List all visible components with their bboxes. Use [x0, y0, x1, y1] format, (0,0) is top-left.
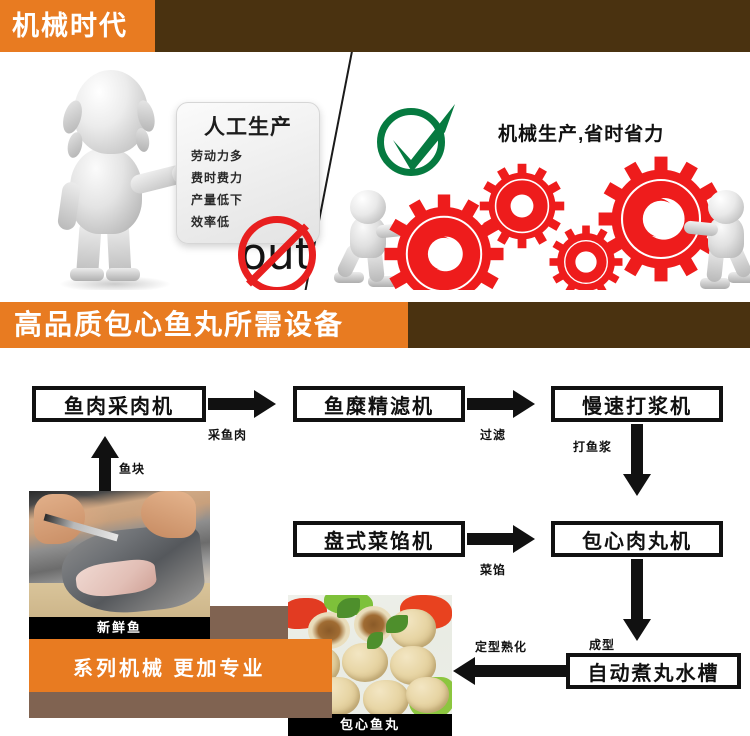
arrow-label-forming: 成型	[589, 636, 615, 653]
top-banner: 机械时代	[0, 0, 750, 52]
arrow-veg-filling-head	[513, 525, 535, 553]
gear-assembly	[400, 132, 750, 290]
promo-band-label: 系列机械 更加专业	[73, 652, 266, 681]
hero-illustration: 人工生产 劳动力多 费时费力 产量低下 效率低 out 机械生产,省时省力	[0, 52, 750, 290]
pusher-head	[708, 190, 744, 224]
list-item: 费时费力	[191, 167, 311, 189]
pusher-figure-right	[694, 190, 750, 290]
arrow-setting-cooking-shaft	[475, 665, 567, 677]
arrow-label-veg-filling: 菜馅	[480, 561, 506, 578]
arrow-filter-shaft	[467, 398, 515, 410]
mannequin-foot-left	[70, 268, 104, 281]
section-title: 高品质包心鱼丸所需设备	[14, 306, 344, 344]
arrow-label-collect-fish-meat: 采鱼肉	[208, 426, 247, 443]
box-label: 鱼肉采肉机	[64, 390, 174, 419]
page-root: 机械时代 人工生产 劳动力多 费时费力	[0, 0, 750, 736]
box-stuffed-meatball-machine[interactable]: 包心肉丸机	[551, 521, 723, 557]
arrow-label-setting-cooking: 定型熟化	[475, 638, 527, 655]
box-label: 包心肉丸机	[582, 525, 692, 554]
mannequin-figure	[46, 70, 181, 270]
box-label: 鱼糜精滤机	[324, 390, 434, 419]
arrow-filter-head	[513, 390, 535, 418]
arrow-fish-chunk-head	[91, 436, 119, 458]
box-slow-beater[interactable]: 慢速打浆机	[551, 386, 723, 422]
arrow-setting-cooking-head	[453, 657, 475, 685]
arrow-label-filter: 过滤	[480, 426, 506, 443]
arrow-label-fish-chunk: 鱼块	[119, 460, 145, 477]
arrow-collect-fish-meat-shaft	[208, 398, 256, 410]
manual-production-title: 人工生产	[177, 111, 319, 141]
list-item: 劳动力多	[191, 145, 311, 167]
top-banner-tab: 机械时代	[0, 0, 155, 52]
fishball	[342, 643, 388, 682]
list-item: 产量低下	[191, 189, 311, 211]
arrow-label-beat-surimi: 打鱼浆	[573, 438, 612, 455]
photo-caption-fresh-fish: 新鲜鱼	[29, 617, 210, 639]
box-label: 自动煮丸水槽	[588, 657, 720, 686]
herb-garnish	[367, 632, 383, 649]
arrow-beat-surimi-head	[623, 474, 651, 496]
brown-bar-lower	[29, 692, 332, 718]
section-banner: 高品质包心鱼丸所需设备	[0, 302, 750, 348]
photo-fresh-fish: 新鲜鱼	[29, 491, 210, 639]
arrow-forming-head	[623, 619, 651, 641]
fishball	[406, 677, 449, 714]
box-tray-filling-machine[interactable]: 盘式菜馅机	[293, 521, 465, 557]
box-fish-meat-separator[interactable]: 鱼肉采肉机	[32, 386, 206, 422]
arrow-forming-shaft	[631, 559, 643, 621]
pusher-head	[350, 190, 386, 224]
box-auto-boiling-tank[interactable]: 自动煮丸水槽	[566, 653, 741, 689]
box-surimi-refiner[interactable]: 鱼糜精滤机	[293, 386, 465, 422]
top-banner-title: 机械时代	[12, 7, 128, 45]
box-label: 慢速打浆机	[582, 390, 692, 419]
section-banner-tab: 高品质包心鱼丸所需设备	[0, 302, 408, 348]
promo-band: 系列机械 更加专业	[29, 639, 332, 692]
out-stamp-icon: out	[238, 216, 322, 290]
arrow-collect-fish-meat-head	[254, 390, 276, 418]
mannequin-foot-right	[106, 268, 140, 281]
box-label: 盘式菜馅机	[324, 525, 434, 554]
mannequin-body	[70, 148, 142, 234]
equipment-flowchart: 鱼肉采肉机 采鱼肉 鱼糜精滤机 过滤 慢速打浆机 鱼块 打鱼浆 盘式菜馅机 菜馅…	[0, 348, 750, 736]
arrow-veg-filling-shaft	[467, 533, 515, 545]
arrow-beat-surimi-shaft	[631, 424, 643, 476]
